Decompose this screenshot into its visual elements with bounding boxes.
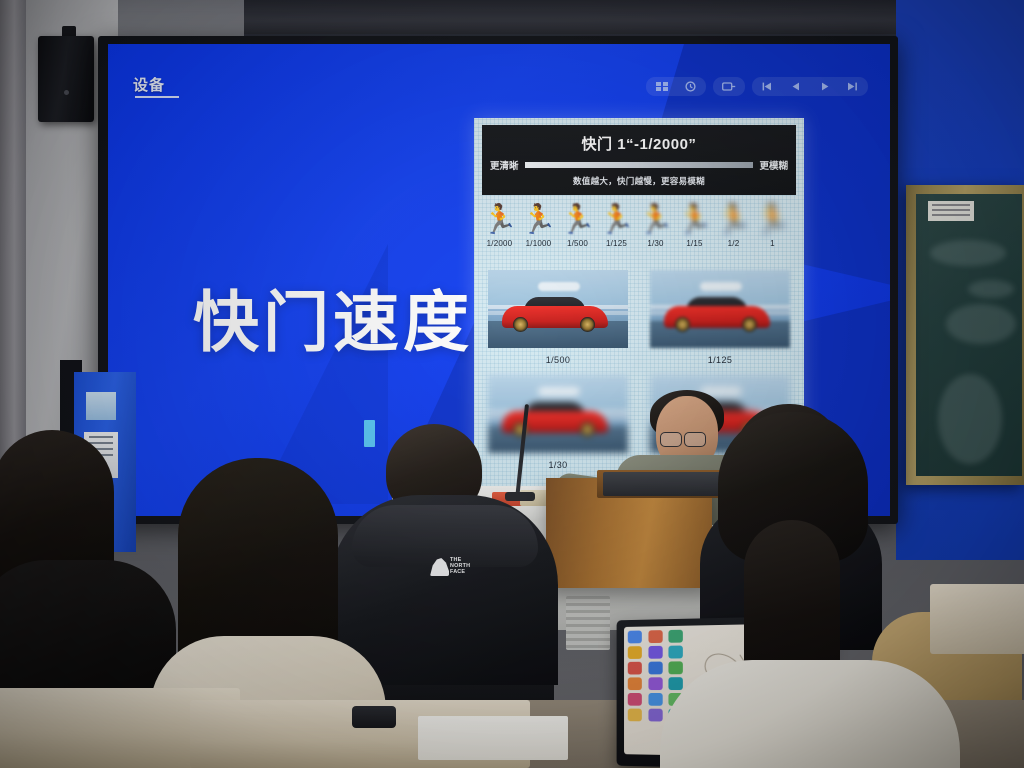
- next-slide-icon[interactable]: [811, 79, 837, 94]
- grid-view-icon[interactable]: [649, 79, 675, 94]
- runner-blur-scale: 🏃1/2000🏃1/1000🏃1/500🏃1/125🏃1/30🏃1/15🏃1/2…: [480, 204, 798, 264]
- prev-section-icon[interactable]: [755, 79, 781, 94]
- desktop-icon[interactable]: [628, 677, 642, 690]
- chalkboard-face: [916, 194, 1022, 476]
- desktop-icon[interactable]: [648, 677, 662, 690]
- presenter-glasses-right: [684, 432, 706, 447]
- slide-title: 快门速度: [193, 289, 473, 355]
- runner-icon: 🏃: [480, 204, 519, 236]
- sample-photo: [488, 375, 628, 453]
- sample-photo-label: 1/500: [488, 355, 628, 365]
- timer-icon[interactable]: [677, 79, 703, 94]
- toolbar-group-view[interactable]: [646, 77, 706, 96]
- desktop-icon[interactable]: [628, 693, 642, 706]
- sharpness-scale: 更清晰 更模糊: [490, 158, 788, 172]
- desktop-icon[interactable]: [628, 662, 642, 675]
- paper-on-desk: [418, 716, 568, 760]
- chalkboard-notice: [928, 201, 974, 221]
- student-ponytail-body: [660, 660, 960, 768]
- brand-line-3: FACE: [450, 569, 465, 575]
- runner-label: 1/2: [714, 239, 753, 248]
- presenter-glasses-left: [660, 432, 682, 447]
- runner-item: 🏃1: [753, 204, 792, 248]
- runner-icon: 🏃: [714, 204, 753, 236]
- runner-icon: 🏃: [753, 204, 792, 236]
- desktop-icon[interactable]: [648, 662, 662, 675]
- desktop-icon[interactable]: [669, 661, 683, 674]
- runner-item: 🏃1/2: [714, 204, 753, 248]
- desktop-icon[interactable]: [628, 646, 642, 659]
- runner-label: 1/125: [597, 239, 636, 248]
- prev-slide-icon[interactable]: [783, 79, 809, 94]
- sample-photo-label: 1/30: [488, 460, 628, 470]
- north-face-logo: THE NORTH FACE: [430, 556, 476, 578]
- desktop-icon[interactable]: [648, 709, 662, 722]
- north-face-dome-icon: [430, 558, 449, 576]
- toolbar-group-nav[interactable]: [752, 77, 868, 96]
- runner-label: 1/500: [558, 239, 597, 248]
- desktop-icon[interactable]: [669, 646, 683, 659]
- slide-eyebrow: 设备: [133, 74, 165, 95]
- desktop-icon[interactable]: [648, 646, 662, 659]
- sample-photo-cell: 1/30: [488, 375, 628, 470]
- desktop-icon[interactable]: [628, 709, 642, 722]
- chalkboard: [906, 185, 1024, 485]
- runner-item: 🏃1/30: [636, 204, 675, 248]
- table-vent-panel: [566, 596, 610, 650]
- phone-on-desk: [352, 706, 396, 728]
- next-section-icon[interactable]: [839, 79, 865, 94]
- desktop-icon[interactable]: [648, 630, 662, 643]
- wall-edge: [0, 0, 26, 470]
- accent-bar: [364, 420, 375, 447]
- runner-label: 1: [753, 239, 792, 248]
- pen-icon[interactable]: [716, 79, 742, 94]
- shutter-card-title: 快门 1“-1/2000”: [482, 133, 796, 154]
- sample-photo: [650, 270, 790, 348]
- presentation-toolbar[interactable]: [646, 77, 868, 96]
- runner-item: 🏃1/500: [558, 204, 597, 248]
- runner-icon: 🏃: [597, 204, 636, 236]
- scale-gradient-bar: [525, 162, 754, 168]
- toolbar-group-annotate[interactable]: [713, 77, 745, 96]
- runner-item: 🏃1/125: [597, 204, 636, 248]
- runner-item: 🏃1/1000: [519, 204, 558, 248]
- scale-label-blurrier: 更模糊: [759, 158, 788, 172]
- desktop-icon[interactable]: [669, 677, 683, 690]
- desktop-icon[interactable]: [628, 631, 642, 644]
- rack-card: [86, 392, 116, 420]
- runner-item: 🏃1/2000: [480, 204, 519, 248]
- classroom-scene: 设备 快门速度: [0, 0, 1024, 768]
- wall-speaker: [38, 36, 94, 122]
- shutter-card-subtitle: 数值越大，快门越慢，更容易模糊: [482, 175, 796, 187]
- shutter-scale-card: 快门 1“-1/2000” 更清晰 更模糊 数值越大，快门越慢，更容易模糊: [482, 125, 796, 195]
- runner-label: 1/1000: [519, 239, 558, 248]
- desktop-icon[interactable]: [669, 630, 683, 643]
- sample-photo-cell: 1/125: [650, 270, 790, 365]
- scale-label-sharper: 更清晰: [490, 158, 519, 172]
- slide-eyebrow-rule: [135, 96, 179, 98]
- desktop-icon[interactable]: [648, 693, 662, 706]
- sample-photo-label: 1/125: [650, 355, 790, 365]
- sample-photo: [488, 270, 628, 348]
- runner-label: 1/2000: [480, 239, 519, 248]
- runner-icon: 🏃: [675, 204, 714, 236]
- runner-icon: 🏃: [519, 204, 558, 236]
- runner-icon: 🏃: [558, 204, 597, 236]
- runner-label: 1/15: [675, 239, 714, 248]
- runner-icon: 🏃: [636, 204, 675, 236]
- runner-label: 1/30: [636, 239, 675, 248]
- desk-right: [930, 584, 1024, 654]
- sample-photo-cell: 1/500: [488, 270, 628, 365]
- runner-item: 🏃1/15: [675, 204, 714, 248]
- microphone-base: [505, 492, 535, 501]
